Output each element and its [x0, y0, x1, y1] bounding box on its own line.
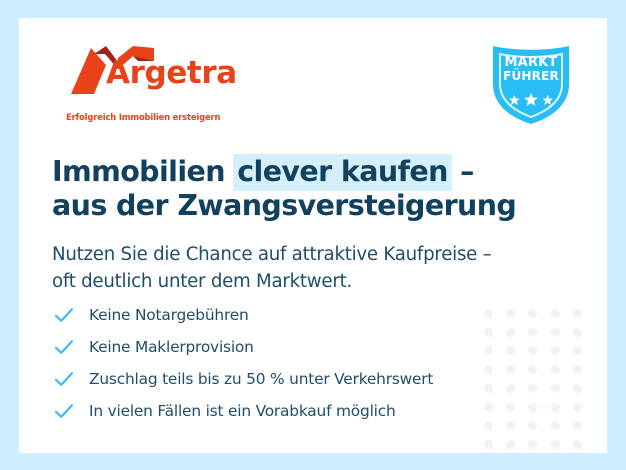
dot	[573, 365, 582, 374]
dot	[551, 403, 560, 412]
headline: Immobilien clever kaufen – aus der Zwang…	[52, 155, 562, 222]
shield-badge-icon	[488, 34, 574, 126]
dot	[551, 365, 560, 374]
headline-line-1: Immobilien clever kaufen –	[52, 155, 562, 189]
markt-fuehrer-badge: MARKT FÜHRER	[488, 34, 574, 126]
dot	[573, 384, 582, 393]
headline-text-after: –	[451, 155, 474, 188]
dot	[528, 365, 537, 374]
list-item-label: In vielen Fällen ist ein Vorabkauf mögli…	[89, 402, 396, 420]
logo-tagline: Erfolgreich Immobilien ersteigern	[66, 112, 220, 122]
headline-line-2: aus der Zwangsversteigerung	[52, 189, 562, 223]
dot	[551, 328, 560, 337]
list-item-label: Keine Notargebühren	[89, 306, 249, 324]
ad-frame: Argetra Erfolgreich Immobilien ersteiger…	[0, 0, 626, 470]
argetra-logo[interactable]: Argetra Erfolgreich Immobilien ersteiger…	[58, 44, 268, 124]
dot	[551, 421, 560, 430]
dot	[528, 346, 537, 355]
subheadline-line-2: oft deutlich unter dem Marktwert.	[52, 269, 572, 296]
check-icon	[53, 337, 75, 357]
list-item: In vielen Fällen ist ein Vorabkauf mögli…	[53, 396, 523, 426]
headline-text-before: Immobilien	[52, 155, 234, 188]
list-item-label: Keine Maklerprovision	[89, 338, 254, 356]
dot	[551, 346, 560, 355]
dot	[528, 384, 537, 393]
dot	[573, 421, 582, 430]
dot	[573, 346, 582, 355]
dot	[573, 309, 582, 318]
dot	[528, 309, 537, 318]
dot	[528, 328, 537, 337]
dot	[506, 440, 515, 449]
dot	[573, 440, 582, 449]
dot	[573, 328, 582, 337]
dot	[551, 384, 560, 393]
dot	[551, 309, 560, 318]
check-icon	[53, 369, 75, 389]
check-icon	[53, 305, 75, 325]
dot	[528, 440, 537, 449]
dot	[551, 440, 560, 449]
subheadline-line-1: Nutzen Sie die Chance auf attraktive Kau…	[52, 242, 572, 269]
check-icon	[53, 401, 75, 421]
logo-wordmark: Argetra	[106, 58, 237, 89]
list-item: Keine Maklerprovision	[53, 332, 523, 362]
list-item: Keine Notargebühren	[53, 300, 523, 330]
dot	[528, 403, 537, 412]
list-item-label: Zuschlag teils bis zu 50 % unter Verkehr…	[89, 370, 433, 388]
headline-highlight: clever kaufen	[233, 154, 452, 191]
benefits-checklist: Keine Notargebühren Keine Maklerprovisio…	[53, 300, 523, 428]
dot	[484, 440, 493, 449]
subheadline: Nutzen Sie die Chance auf attraktive Kau…	[52, 242, 572, 295]
dot	[573, 403, 582, 412]
dot	[528, 421, 537, 430]
ad-card: Argetra Erfolgreich Immobilien ersteiger…	[19, 18, 607, 453]
list-item: Zuschlag teils bis zu 50 % unter Verkehr…	[53, 364, 523, 394]
